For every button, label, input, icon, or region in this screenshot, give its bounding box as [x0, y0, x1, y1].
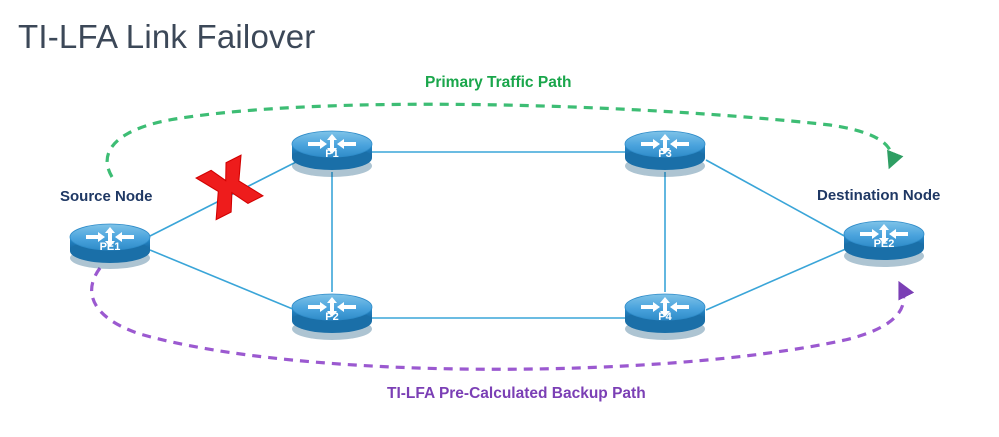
primary-traffic-path	[107, 104, 892, 177]
router-pe2[interactable]: PE2	[844, 221, 924, 267]
router-name-p1: P1	[325, 148, 338, 160]
link-layer	[150, 152, 848, 318]
source-node-label: Source Node	[60, 188, 153, 205]
primary-path-label: Primary Traffic Path	[425, 74, 571, 92]
router-p3[interactable]: P3	[625, 131, 705, 177]
primary-path-curve	[107, 104, 892, 177]
router-name-p4: P4	[658, 311, 672, 323]
network-diagram: PE1 P1 P3	[0, 0, 999, 437]
failure-x-icon	[195, 155, 263, 220]
router-name-p3: P3	[658, 148, 671, 160]
router-name-pe1: PE1	[100, 241, 121, 253]
diagram-canvas: TI-LFA Link Failover	[0, 0, 999, 437]
router-p1[interactable]: P1	[292, 131, 372, 177]
link-pe1-p2	[150, 250, 300, 312]
backup-path-label: TI-LFA Pre-Calculated Backup Path	[387, 385, 646, 403]
router-p4[interactable]: P4	[625, 294, 705, 340]
link-p4-pe2	[706, 248, 848, 310]
router-p2[interactable]: P2	[292, 294, 372, 340]
destination-node-label: Destination Node	[817, 187, 940, 204]
router-pe1[interactable]: PE1	[70, 224, 150, 269]
router-name-pe2: PE2	[874, 238, 895, 250]
router-name-p2: P2	[325, 311, 338, 323]
